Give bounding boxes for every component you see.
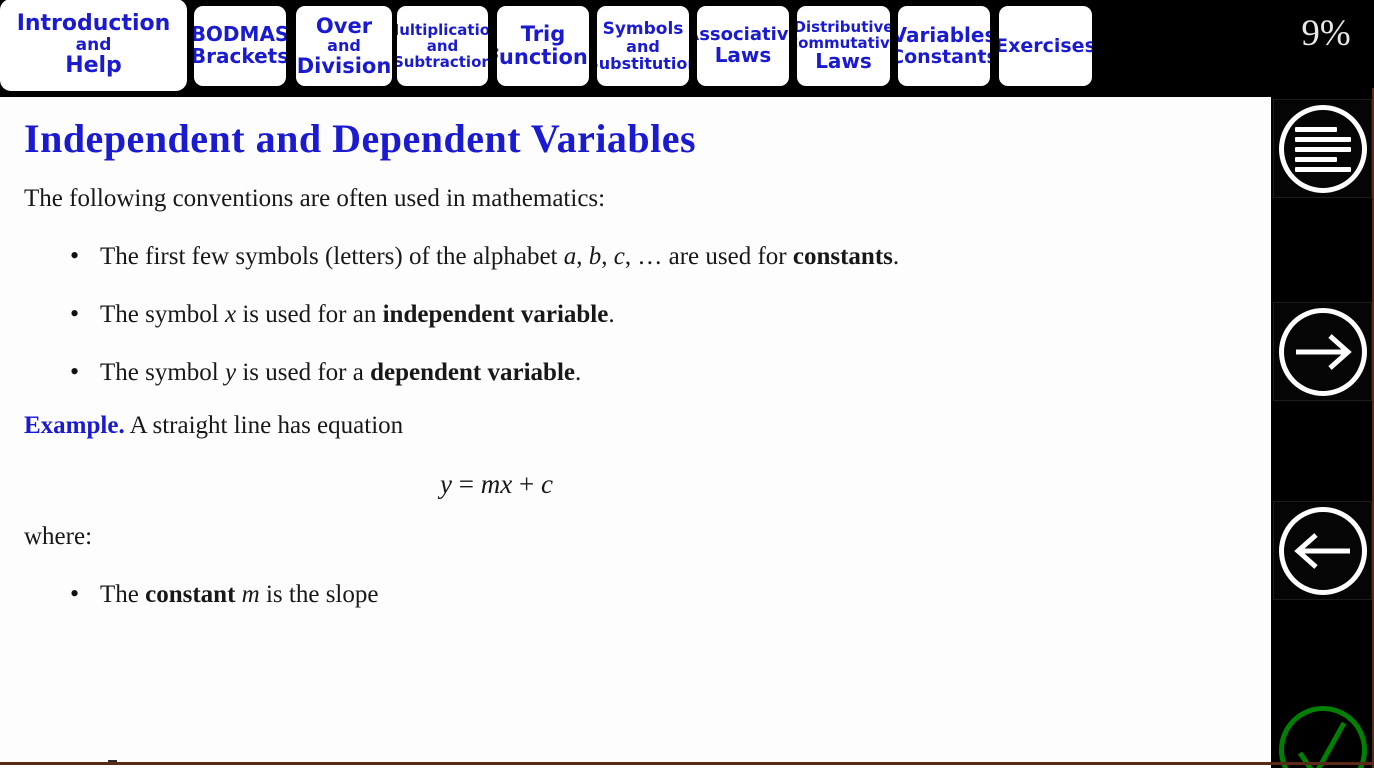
arrow-left-icon	[1279, 507, 1367, 595]
text-run-plain: is the slope	[260, 581, 379, 608]
text-run-plain: ,	[601, 243, 614, 270]
text-run-plain: .	[893, 243, 899, 270]
list-item: The symbol y is used for a dependent var…	[22, 357, 972, 389]
where-bullet-list: The constant m is the slope	[22, 579, 1241, 611]
text-run-plain: The symbol	[100, 301, 225, 328]
text-run-plain: , … are used for	[625, 243, 793, 270]
tab-label-line: Substitution	[597, 55, 689, 72]
text-run-plain: =	[452, 469, 481, 499]
page-title: Independent and Dependent Variables	[24, 115, 1241, 162]
text-run-math: y	[440, 469, 452, 499]
previous-page-button[interactable]	[1273, 501, 1372, 600]
hamburger-line	[1295, 167, 1351, 172]
text-run-math: mx	[481, 469, 512, 499]
text-run-plain: is used for an	[236, 301, 383, 328]
text-run-plain: +	[512, 469, 541, 499]
tab-label-line: BODMAS	[194, 24, 286, 46]
text-run-plain: ,	[576, 243, 589, 270]
example-paragraph: Example. A straight line has equation	[24, 411, 1241, 442]
list-item: The constant m is the slope	[22, 579, 972, 611]
tab-label-line: Division	[297, 55, 392, 78]
text-run-math: m	[242, 581, 260, 608]
tab-label-line: Exercises	[999, 36, 1092, 57]
text-run-math: a	[564, 243, 577, 270]
list-item: The first few symbols (letters) of the a…	[22, 241, 972, 273]
tab-label-line: Functions	[497, 46, 589, 69]
example-text: A straight line has equation	[130, 412, 404, 439]
tab-introduction-and-help[interactable]: IntroductionandHelp	[2, 1, 185, 89]
text-run-math: x	[225, 301, 236, 328]
text-run-plain: The first few symbols (letters) of the a…	[100, 243, 564, 270]
top-navigation-bar: IntroductionandHelpBODMASBracketsOverand…	[0, 0, 1374, 97]
slide-content: Independent and Dependent Variables The …	[0, 97, 1271, 768]
text-run-math: c	[541, 469, 553, 499]
text-run-bold: constants	[793, 243, 893, 270]
intro-paragraph: The following conventions are often used…	[24, 184, 1241, 215]
tab-label-line: Introduction	[17, 12, 171, 36]
arrow-right-icon	[1279, 308, 1367, 396]
bottom-rule	[0, 762, 1374, 765]
navigation-sidebar	[1271, 97, 1374, 768]
hamburger-line	[1295, 137, 1351, 142]
tab-variables-constants[interactable]: VariablesConstants	[898, 6, 990, 86]
text-run-math: b	[589, 243, 602, 270]
text-run-math: c	[614, 243, 625, 270]
list-item: The symbol x is used for an independent …	[22, 299, 972, 331]
hamburger-line	[1295, 127, 1337, 132]
text-run-math: y	[225, 359, 236, 386]
text-run-plain: .	[608, 301, 614, 328]
progress-percent-label: 9%	[1286, 12, 1366, 55]
tab-symbols-and-substitution[interactable]: SymbolsandSubstitution	[597, 6, 689, 86]
hamburger-line	[1295, 147, 1351, 152]
tab-label-line: and	[427, 38, 459, 54]
tab-label-line: Symbols	[603, 20, 684, 38]
tab-multiplication-and-subtraction[interactable]: MultiplicationandSubtraction	[397, 6, 488, 86]
next-page-button[interactable]	[1273, 302, 1372, 401]
display-equation: y = mx + c	[22, 469, 1241, 500]
tab-exercises[interactable]: Exercises	[999, 6, 1092, 86]
text-run-plain: The	[100, 581, 145, 608]
tab-label-line: and	[76, 36, 112, 54]
tab-label-line: Trig	[521, 23, 566, 46]
tab-label-line: Laws	[715, 45, 772, 67]
text-run-plain: .	[575, 359, 581, 386]
text-run-bold: independent variable	[383, 301, 609, 328]
where-label: where:	[24, 522, 1241, 553]
tab-label-line: Over	[316, 15, 372, 38]
tab-label-line: Variables	[898, 25, 990, 47]
tab-label-line: Laws	[815, 51, 872, 73]
text-run-plain: is used for a	[236, 359, 370, 386]
tab-label-line: Multiplication	[397, 22, 488, 38]
conventions-bullet-list: The first few symbols (letters) of the a…	[22, 241, 1241, 389]
example-label: Example.	[24, 412, 125, 439]
hamburger-menu-icon	[1279, 105, 1367, 193]
tab-label-line: Brackets	[194, 46, 286, 68]
text-run-bold: dependent variable	[370, 359, 575, 386]
text-run-plain: The symbol	[100, 359, 225, 386]
tab-over-and-division[interactable]: OverandDivision	[296, 6, 392, 86]
presentation-viewer: IntroductionandHelpBODMASBracketsOverand…	[0, 0, 1374, 768]
tab-label-line: Constants	[898, 47, 990, 68]
tab-bodmas-brackets[interactable]: BODMASBrackets	[194, 6, 286, 86]
tab-label-line: and	[327, 37, 361, 54]
tab-associative-laws[interactable]: AssociativeLaws	[697, 6, 789, 86]
text-run-bold: constant	[145, 581, 235, 608]
tab-distributive-commutative-laws[interactable]: DistributiveCommutativeLaws	[797, 6, 890, 86]
tab-label-line: Distributive	[797, 19, 890, 35]
tab-label-line: Subtraction	[397, 54, 488, 70]
hamburger-lines	[1295, 127, 1351, 171]
tab-label-line: Help	[65, 54, 122, 78]
hamburger-line	[1295, 157, 1337, 162]
tab-label-line: Associative	[697, 25, 789, 44]
tab-trig-functions[interactable]: TrigFunctions	[497, 6, 589, 86]
tab-label-line: and	[626, 38, 660, 55]
check-circle-icon	[1279, 706, 1367, 768]
check-answer-button[interactable]	[1273, 700, 1372, 768]
contents-menu-button[interactable]	[1273, 99, 1372, 198]
